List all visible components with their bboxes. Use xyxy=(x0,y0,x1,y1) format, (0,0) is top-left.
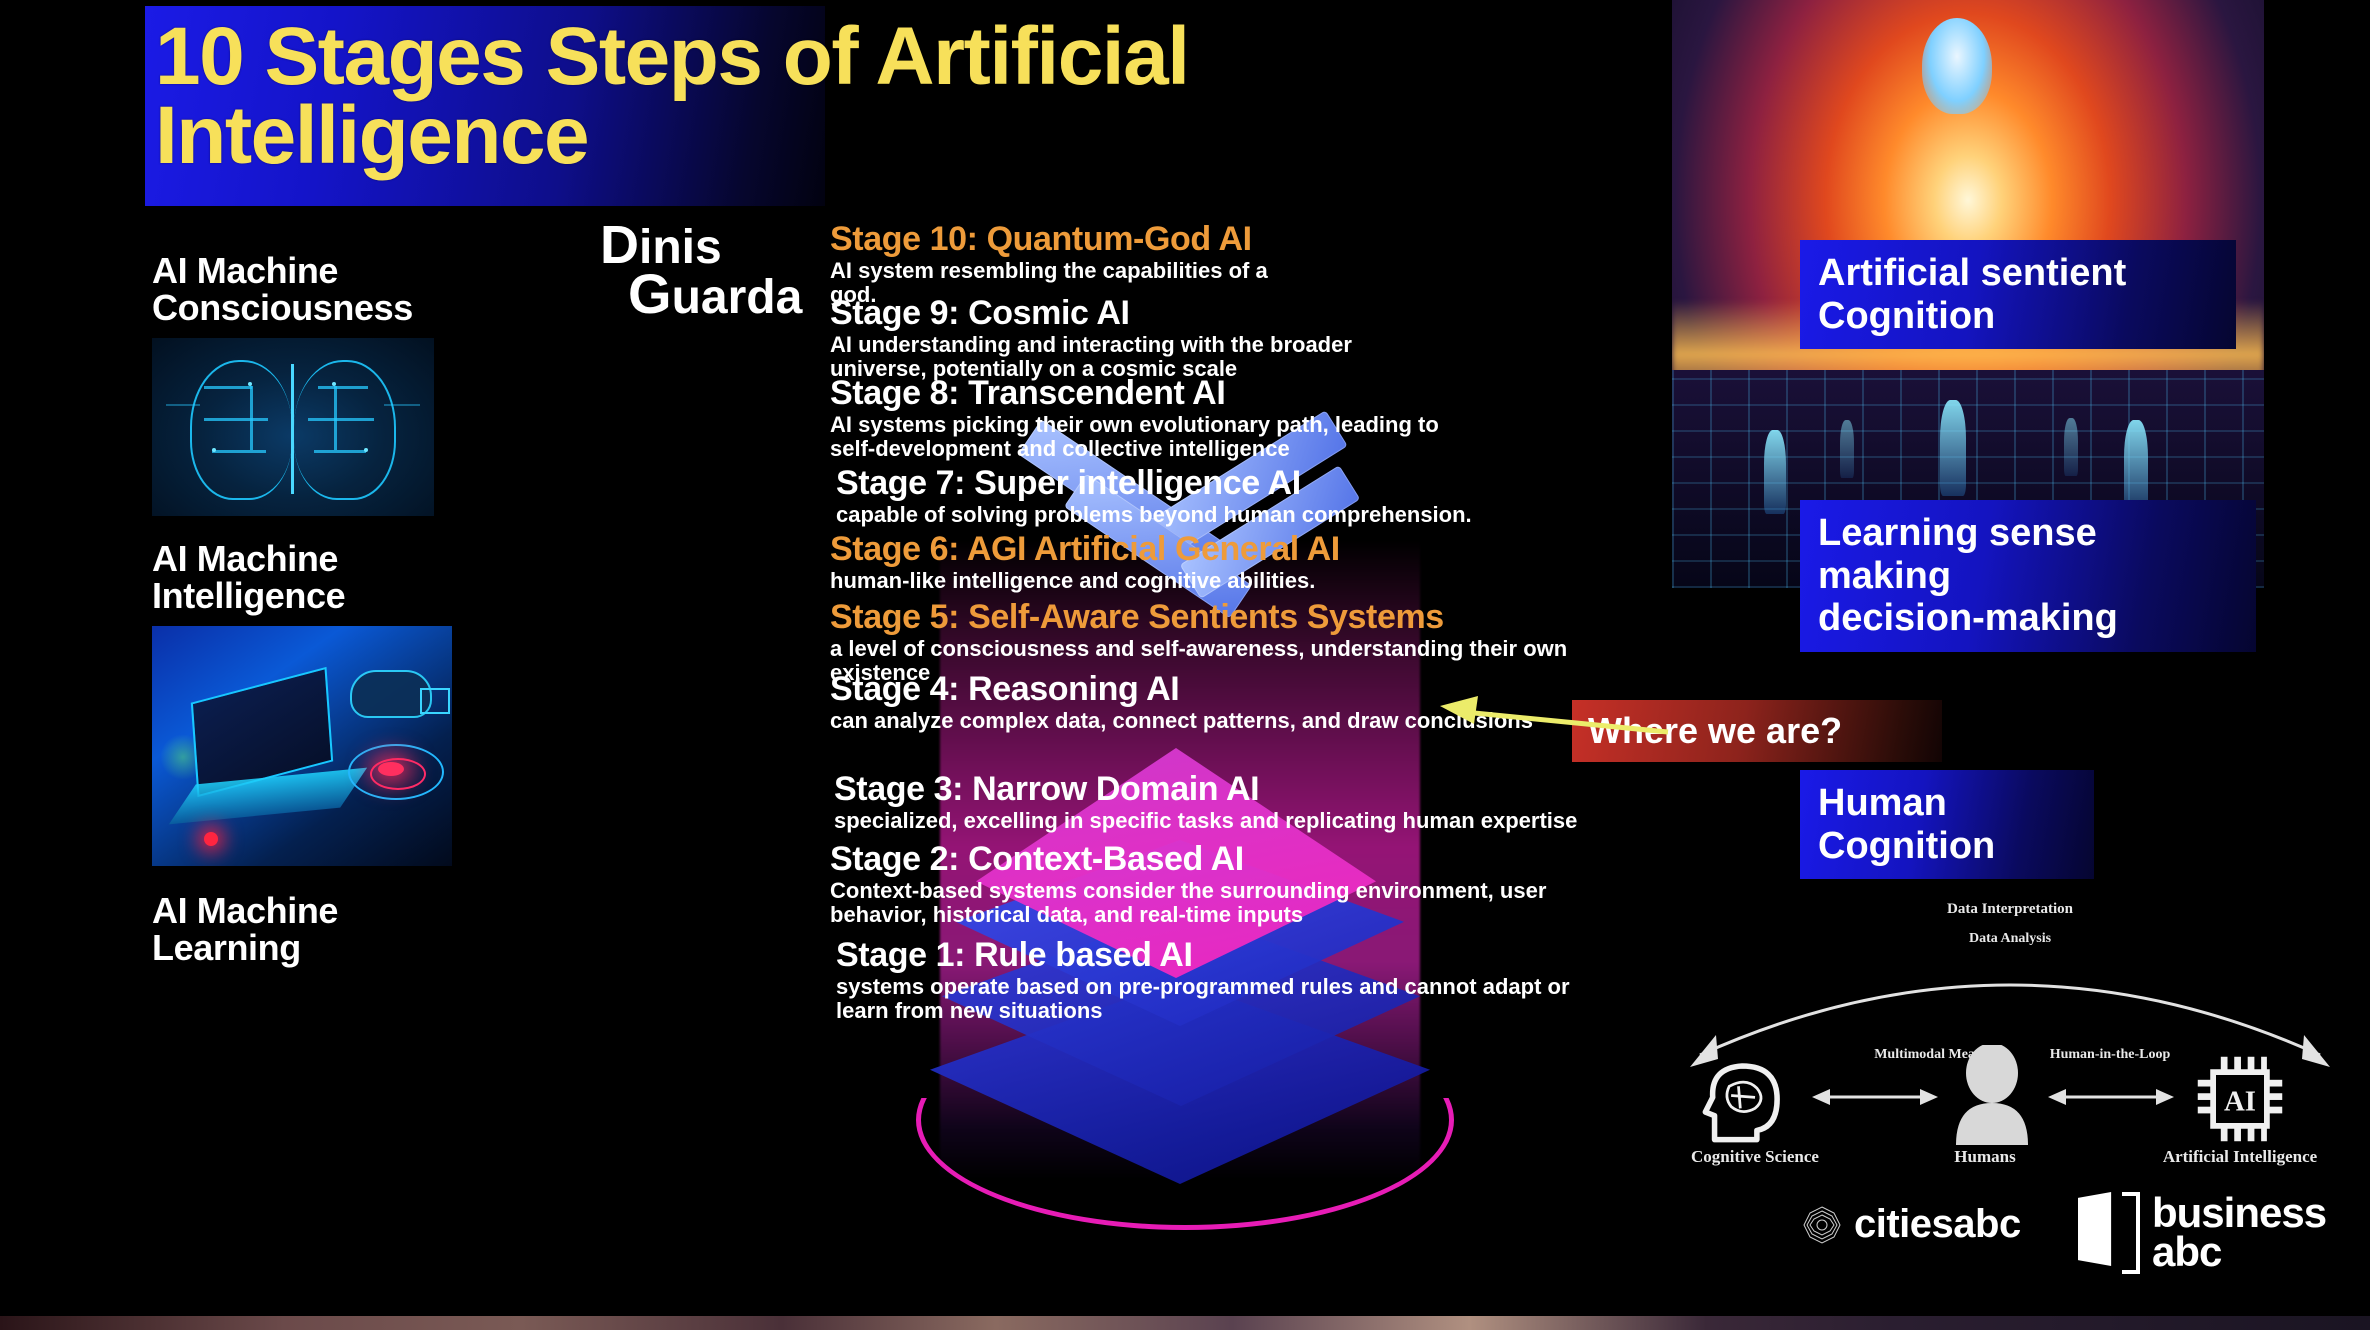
brain-trace xyxy=(318,386,368,389)
right-double-arrow xyxy=(2046,1085,2176,1109)
bottom-color-strip xyxy=(0,1316,2370,1330)
label-ai-machine-learning: AI Machine Learning xyxy=(152,892,622,966)
logo-initial-g: G xyxy=(628,262,672,325)
arc-top-label: Data Interpretation xyxy=(1840,901,2180,918)
businessabc-wordmark: business abc xyxy=(2152,1194,2326,1271)
brain-trace xyxy=(334,386,337,450)
label-human-cognition: Human Cognition xyxy=(1800,770,2094,879)
citiesabc-logo[interactable]: citiesabc xyxy=(1800,1202,2021,1247)
label-learning-sense-making: Learning sense making decision-making xyxy=(1800,500,2256,652)
ai-chip-icon: AI xyxy=(2192,1051,2288,1147)
stage-title: Stage 8: Transcendent AI xyxy=(830,376,1660,411)
circuit-brain-image xyxy=(152,338,434,516)
brain-lobe-right xyxy=(294,360,396,500)
chip-ai-text: AI xyxy=(2224,1086,2256,1118)
brain-trace xyxy=(212,450,266,453)
stage-description: AI systems picking their own evolutionar… xyxy=(830,413,1660,462)
stage-description: specialized, excelling in specific tasks… xyxy=(834,809,1660,834)
stage-title: Stage 5: Self-Aware Sentients Systems xyxy=(830,600,1660,635)
stage-item-6[interactable]: Stage 6: AGI Artificial General AI human… xyxy=(830,532,1660,593)
page-title: 10 Stages Steps of Artificial Intelligen… xyxy=(155,18,1275,175)
stage-item-1[interactable]: Stage 1: Rule based AI systems operate b… xyxy=(836,938,1660,1024)
stage-title: Stage 6: AGI Artificial General AI xyxy=(830,532,1660,567)
brain-trace xyxy=(204,418,268,421)
stage-item-9[interactable]: Stage 9: Cosmic AI AI understanding and … xyxy=(830,296,1660,382)
cognitive-science-diagram: Data Interpretation Data Analysis Multim… xyxy=(1660,895,2360,1175)
stage-title: Stage 2: Context-Based AI xyxy=(830,842,1660,877)
stage-title: Stage 7: Super intelligence AI xyxy=(836,466,1660,501)
label-ai-machine-consciousness: AI Machine Consciousness xyxy=(152,252,622,326)
stage-item-7[interactable]: Stage 7: Super intelligence AI capable o… xyxy=(836,466,1660,527)
dinis-guarda-logo: Dinis Guarda xyxy=(600,218,820,328)
stage-item-2[interactable]: Stage 2: Context-Based AI Context-based … xyxy=(830,842,1660,928)
brain-trace xyxy=(384,404,420,406)
stage-item-8[interactable]: Stage 8: Transcendent AI AI systems pick… xyxy=(830,376,1660,462)
hologram-figure xyxy=(1840,420,1854,478)
brain-trace xyxy=(314,450,366,453)
brain-trace xyxy=(204,386,252,389)
door-icon xyxy=(2078,1192,2140,1274)
person-icon xyxy=(1950,1045,2034,1145)
node-label-artificial-intelligence: Artificial Intelligence xyxy=(2120,1147,2360,1167)
hologram-figure xyxy=(2124,420,2148,512)
infographic-canvas: 10 Stages Steps of Artificial Intelligen… xyxy=(0,0,2370,1330)
footer-logos: citiesabc business abc xyxy=(1800,1186,2360,1296)
stage-title: Stage 1: Rule based AI xyxy=(836,938,1660,973)
stage-title: Stage 9: Cosmic AI xyxy=(830,296,1660,331)
node-label-cognitive-science: Cognitive Science xyxy=(1660,1147,1850,1167)
red-node xyxy=(204,832,218,846)
stage-description: systems operate based on pre-programmed … xyxy=(836,975,1660,1024)
businessabc-logo[interactable]: business abc xyxy=(2078,1192,2326,1274)
stage-title: Stage 10: Quantum-God AI xyxy=(830,222,1660,257)
brain-midline xyxy=(291,364,294,494)
left-double-arrow xyxy=(1810,1085,1940,1109)
brain-trace xyxy=(308,418,374,421)
logo-rest-uarda: uarda xyxy=(672,271,803,324)
brain-lobe-left xyxy=(190,360,292,500)
hologram-figure xyxy=(1764,430,1786,514)
hologram-figure xyxy=(1940,400,1966,496)
where-we-are-arrow xyxy=(1430,690,1670,810)
citiesabc-mark-icon xyxy=(1800,1203,1844,1247)
label-artificial-sentient-cognition: Artificial sentient Cognition xyxy=(1800,240,2236,349)
stage-description: capable of solving problems beyond human… xyxy=(836,503,1660,528)
brain-trace xyxy=(250,386,253,450)
stage-description: human-like intelligence and cognitive ab… xyxy=(830,569,1660,594)
brain-head-icon xyxy=(1698,1055,1790,1147)
left-column: AI Machine Consciousness AI Machine Inte… xyxy=(152,252,622,966)
brain-trace xyxy=(166,404,200,406)
citiesabc-wordmark: citiesabc xyxy=(1854,1202,2021,1247)
users-icon xyxy=(420,688,450,714)
arc-inner-label: Data Analysis xyxy=(1840,931,2180,947)
stage-description: Context-based systems consider the surro… xyxy=(830,879,1660,928)
node-label-humans: Humans xyxy=(1910,1147,2060,1167)
label-ai-machine-intelligence: AI Machine Intelligence xyxy=(152,540,622,614)
ai-laptop-cloud-image xyxy=(152,626,452,866)
hologram-figure xyxy=(2064,418,2078,476)
glowing-figure-head xyxy=(1922,18,1992,114)
logo-line-2: Guarda xyxy=(628,266,802,322)
